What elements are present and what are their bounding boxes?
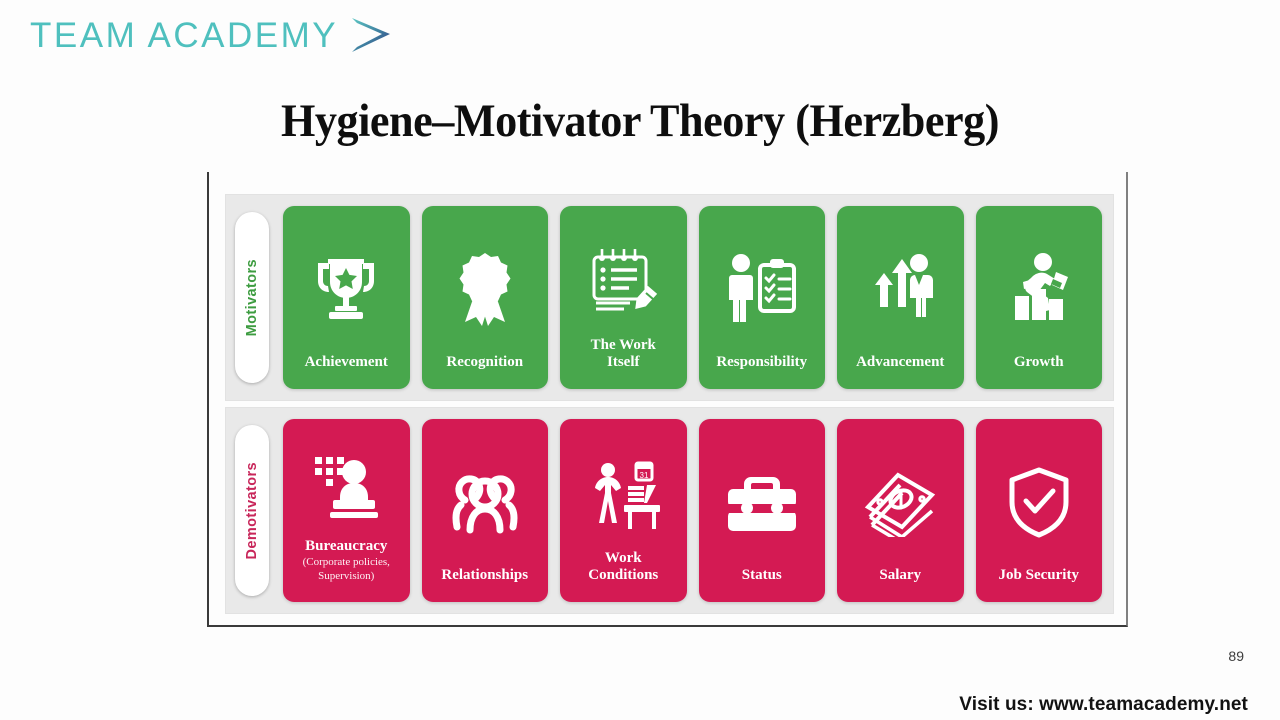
card-work-conditions[interactable]: 31 Work Conditions: [560, 419, 687, 601]
card-label: Recognition: [444, 354, 525, 377]
people-group-icon: [426, 437, 545, 566]
card-achievement[interactable]: Achievement: [283, 206, 410, 388]
card-label: Relationships: [439, 567, 530, 590]
card-label: Work Conditions: [586, 550, 660, 590]
card-label: Responsibility: [714, 354, 809, 377]
card-label: Salary: [877, 567, 923, 590]
up-arrows-person-icon: [841, 224, 960, 353]
card-label: Bureaucracy (Corporate policies, Supervi…: [287, 538, 406, 589]
card-label: Job Security: [997, 567, 1081, 590]
brand-wordmark: TEAM ACADEMY: [30, 18, 338, 53]
rubber-stamp-icon: [287, 437, 406, 538]
money-stack-icon: [841, 437, 960, 566]
card-label: Growth: [1012, 354, 1066, 377]
brand-logo: TEAM ACADEMY: [30, 13, 394, 57]
svg-text:31: 31: [640, 471, 649, 480]
card-label-sub: (Corporate policies, Supervision): [289, 556, 404, 584]
row-demotivators: Demotivators: [225, 407, 1114, 614]
page-number: 89: [1228, 648, 1244, 664]
card-status[interactable]: Status: [699, 419, 826, 601]
card-label-main: Bureaucracy: [305, 538, 387, 554]
row-label-motivators: Motivators: [235, 212, 269, 384]
card-bureaucracy[interactable]: Bureaucracy (Corporate policies, Supervi…: [283, 419, 410, 601]
card-label: The Work Itself: [589, 337, 658, 377]
row-label-demotivators: Demotivators: [235, 425, 269, 597]
motivator-cards: Achievement Recognition: [283, 206, 1102, 388]
shield-check-icon: [980, 437, 1099, 566]
herzberg-diagram: Motivators: [207, 172, 1128, 627]
trophy-icon: [287, 224, 406, 353]
row-motivators: Motivators: [225, 194, 1114, 401]
card-growth[interactable]: Growth: [976, 206, 1103, 388]
row-label-text: Demotivators: [244, 462, 260, 559]
person-clipboard-icon: [703, 224, 822, 353]
card-label: Advancement: [854, 354, 946, 377]
card-label: Status: [740, 567, 784, 590]
page-title: Hygiene–Motivator Theory (Herzberg): [38, 94, 1241, 148]
card-label: Achievement: [303, 354, 390, 377]
demotivator-cards: Bureaucracy (Corporate policies, Supervi…: [283, 419, 1102, 601]
chevron-right-icon: [348, 13, 394, 57]
card-recognition[interactable]: Recognition: [422, 206, 549, 388]
card-salary[interactable]: Salary: [837, 419, 964, 601]
worker-desk-calendar-icon: 31: [564, 437, 683, 550]
card-the-work-itself[interactable]: The Work Itself: [560, 206, 687, 388]
visit-url: Visit us: www.teamacademy.net: [959, 694, 1248, 716]
card-responsibility[interactable]: Responsibility: [699, 206, 826, 388]
row-label-text: Motivators: [244, 259, 260, 336]
checklist-pencil-icon: [564, 224, 683, 337]
person-climbing-bars-icon: [980, 224, 1099, 353]
award-ribbon-icon: [426, 224, 545, 353]
card-relationships[interactable]: Relationships: [422, 419, 549, 601]
card-advancement[interactable]: Advancement: [837, 206, 964, 388]
briefcase-icon: [703, 437, 822, 566]
card-job-security[interactable]: Job Security: [976, 419, 1103, 601]
